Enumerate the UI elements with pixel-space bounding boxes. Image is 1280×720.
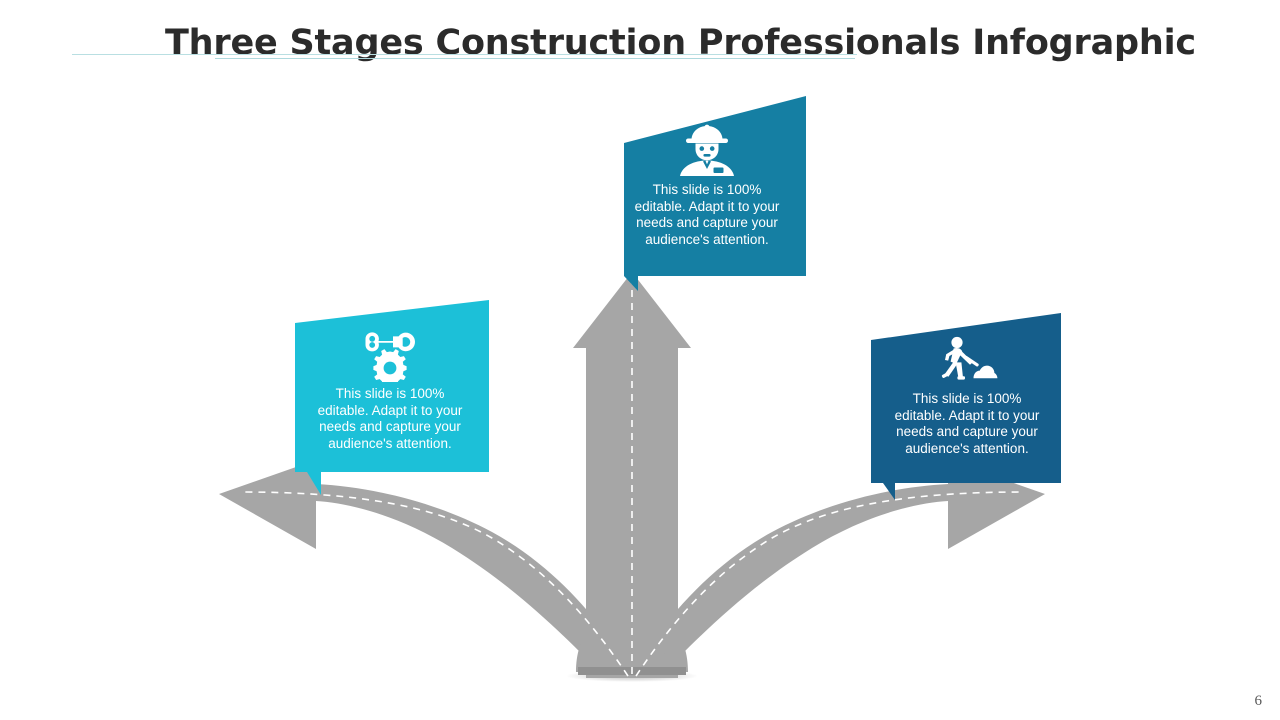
stage-callout-left[interactable]: This slide is 100% editable. Adapt it to… [285,300,500,495]
stage-left-text: This slide is 100% editable. Adapt it to… [301,386,479,452]
slide-canvas: Three Stages Construction Professionals … [0,0,1280,720]
stage-callout-top[interactable]: This slide is 100% editable. Adapt it to… [600,96,815,291]
stage-right-text: This slide is 100% editable. Adapt it to… [877,391,1057,457]
stage-callout-right[interactable]: This slide is 100% editable. Adapt it to… [865,305,1075,500]
stage-top-text: This slide is 100% editable. Adapt it to… [618,182,796,248]
page-number: 6 [1255,693,1263,710]
construction-worker-icon [674,124,740,176]
worker-digging-icon [933,335,999,387]
wrench-gear-icon [357,330,423,382]
